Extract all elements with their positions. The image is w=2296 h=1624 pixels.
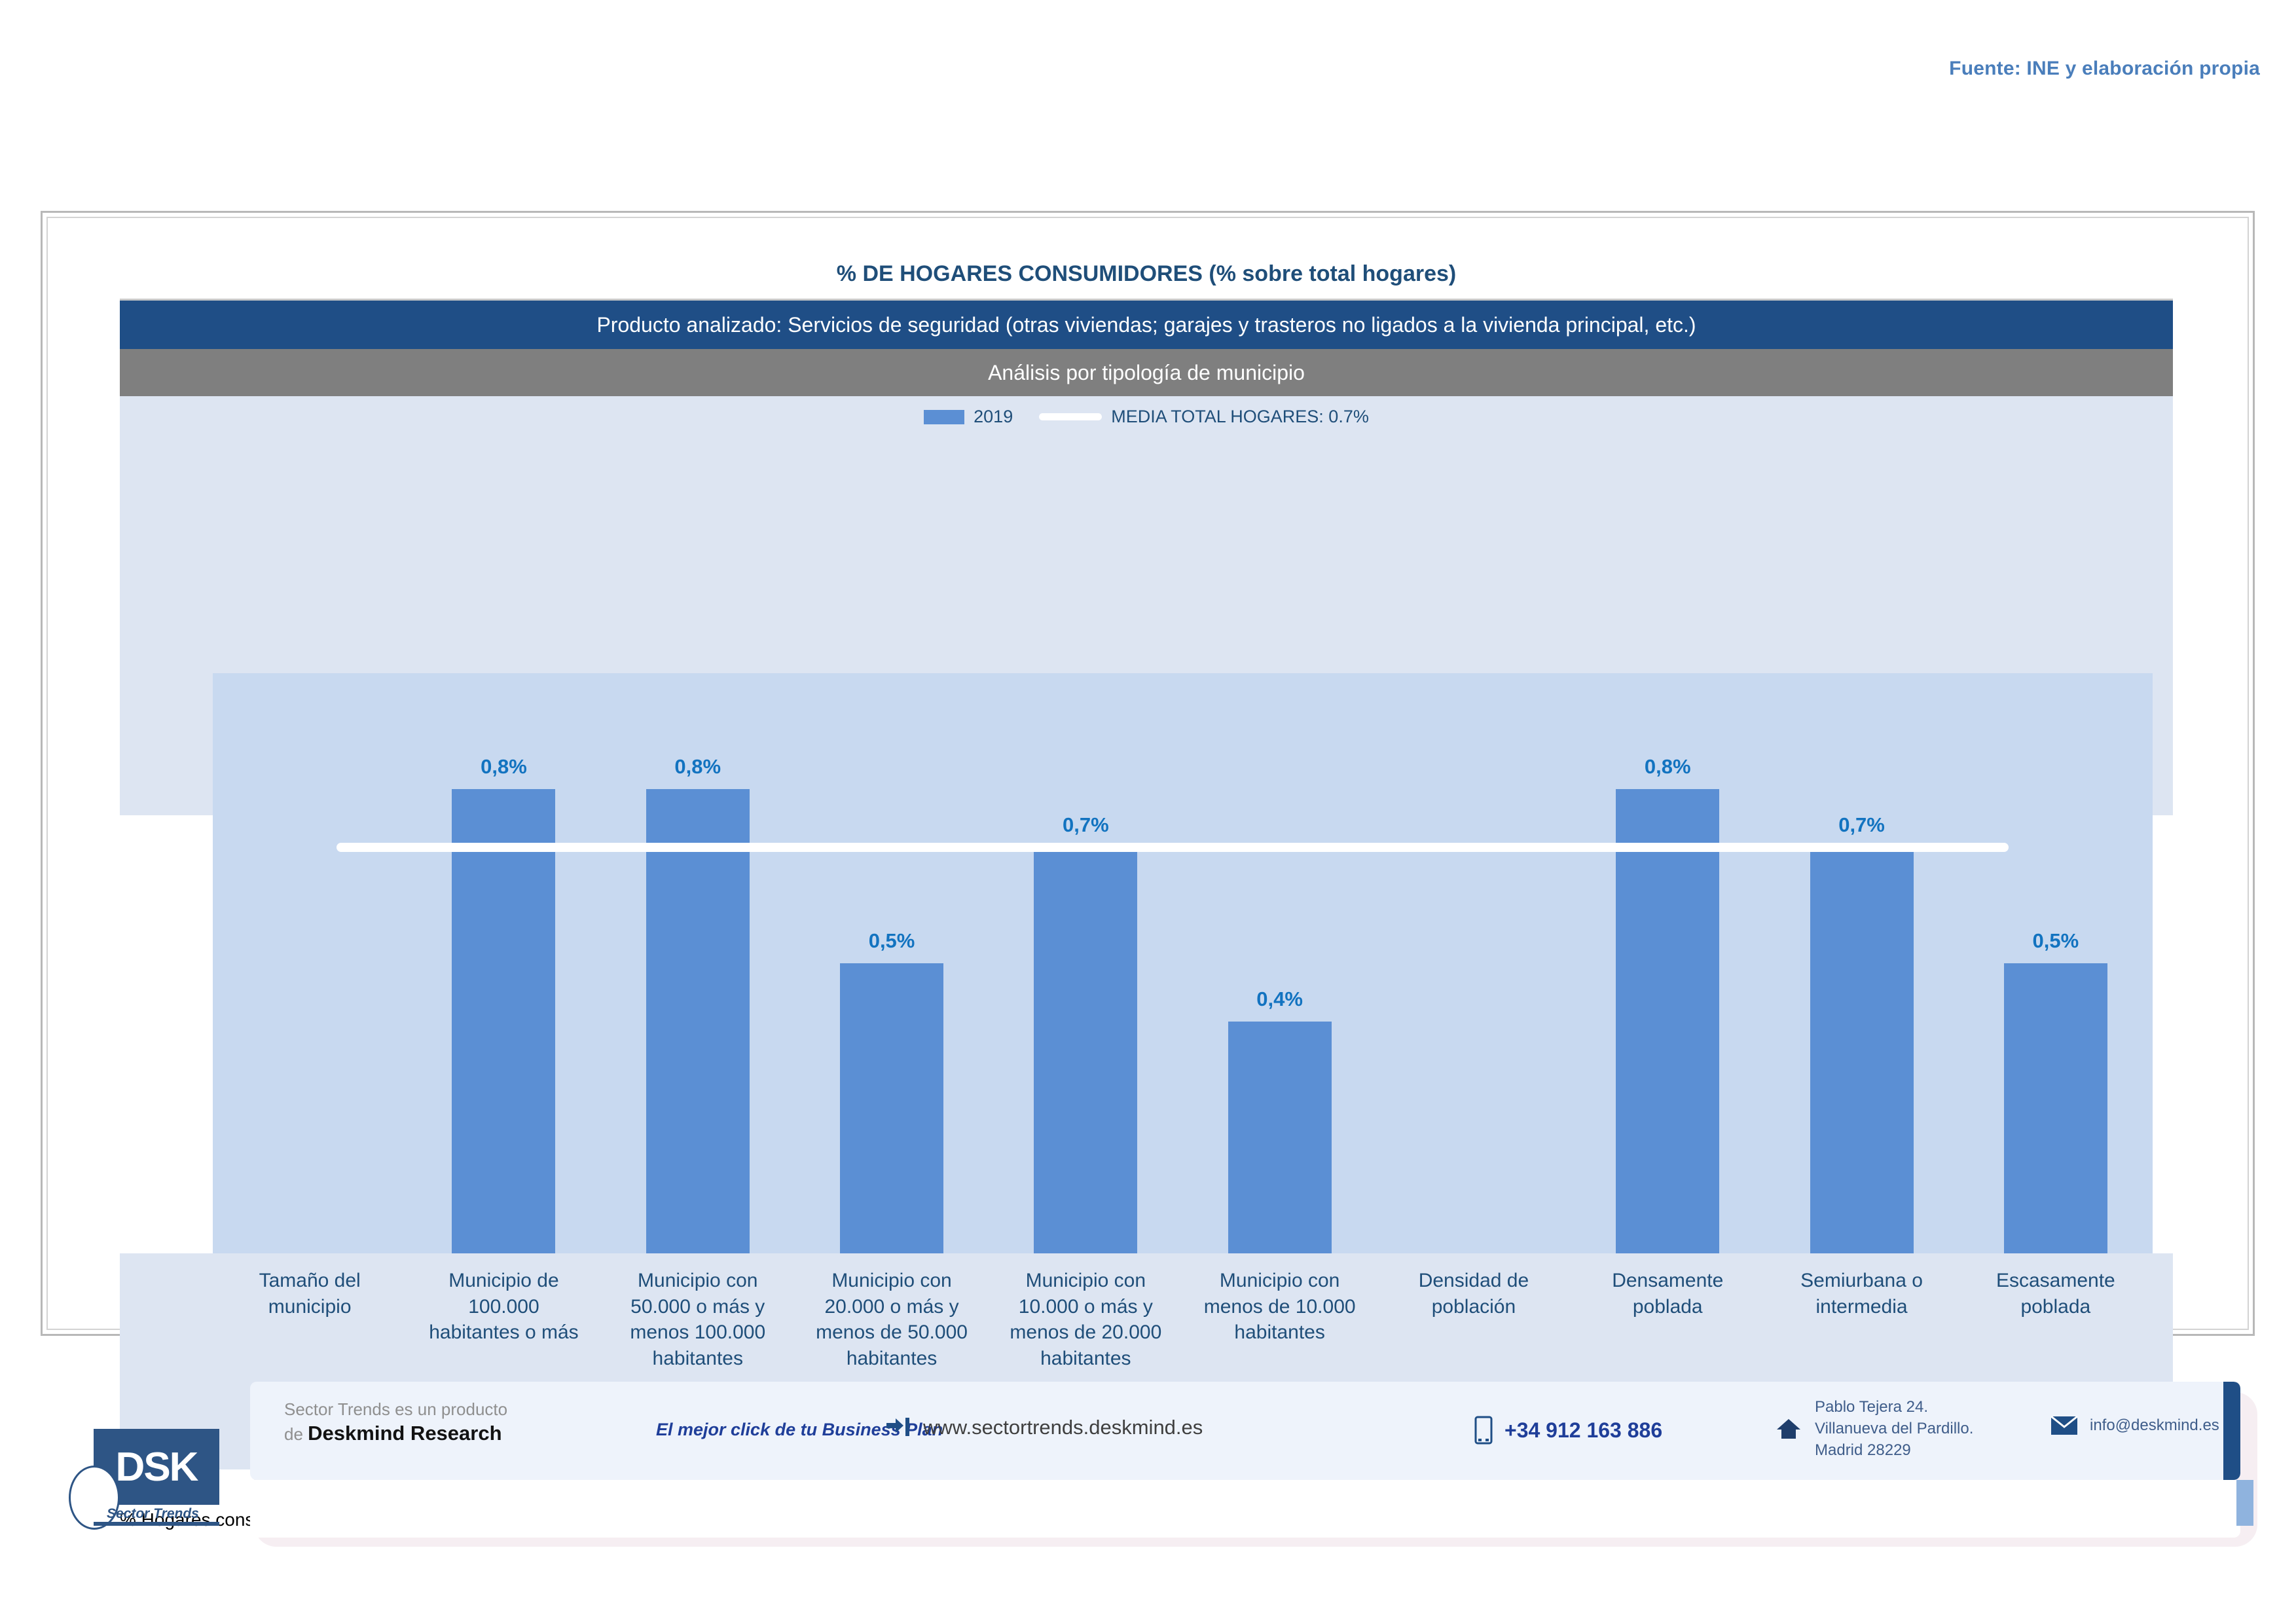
footer-accent-bar-lower bbox=[2236, 1480, 2253, 1526]
category-label: Municipio de100.000habitantes o más bbox=[407, 1268, 600, 1346]
footer-address-line2: Villanueva del Pardillo. bbox=[1815, 1420, 1973, 1437]
footer-website[interactable]: www.sectortrends.deskmind.es bbox=[885, 1416, 1203, 1439]
product-banner: Producto analizado: Servicios de segurid… bbox=[120, 301, 2173, 349]
bar-value-label: 0,7% bbox=[982, 813, 1189, 837]
category-label: Municipio conmenos de 10.000habitantes bbox=[1183, 1268, 1377, 1346]
bar-slot bbox=[1228, 673, 1332, 1253]
logo-underline bbox=[94, 1522, 219, 1526]
legend-item-average[interactable]: MEDIA TOTAL HOGARES: 0.7% bbox=[1039, 407, 1369, 427]
bar[interactable] bbox=[840, 963, 943, 1253]
legend-item-series[interactable]: 2019 bbox=[924, 407, 1013, 427]
mobile-phone-icon bbox=[1474, 1416, 1493, 1445]
slide-frame: % DE HOGARES CONSUMIDORES (% sobre total… bbox=[41, 211, 2255, 1336]
legend-swatch-icon bbox=[924, 410, 964, 424]
category-label-line: menos de 20.000 bbox=[1010, 1321, 1161, 1343]
category-label: Escasamentepoblada bbox=[1959, 1268, 2153, 1319]
category-label-line: 100.000 bbox=[468, 1296, 539, 1318]
footer-website-text: www.sectortrends.deskmind.es bbox=[923, 1416, 1203, 1439]
arrow-right-icon bbox=[885, 1416, 911, 1439]
bar[interactable] bbox=[1616, 789, 1719, 1253]
average-line bbox=[337, 843, 2009, 852]
bar-value-label: 0,7% bbox=[1758, 813, 1965, 837]
slide-inner-frame: % DE HOGARES CONSUMIDORES (% sobre total… bbox=[46, 217, 2249, 1330]
footer-address: Pablo Tejera 24. Villanueva del Pardillo… bbox=[1776, 1396, 1973, 1461]
dsk-logo: DSK Sector Trends bbox=[69, 1429, 219, 1526]
footer-email[interactable]: info@deskmind.es bbox=[2050, 1416, 2219, 1435]
legend-line-icon bbox=[1039, 413, 1102, 420]
bar-slot bbox=[840, 673, 943, 1253]
footer-product-prefix: de bbox=[284, 1424, 308, 1444]
bar[interactable] bbox=[646, 789, 750, 1253]
logo-tagline: Sector Trends bbox=[107, 1506, 199, 1522]
bar-value-label: 0,8% bbox=[594, 755, 801, 779]
footer-address-line1: Pablo Tejera 24. bbox=[1815, 1398, 1928, 1416]
page-title: % DE HOGARES CONSUMIDORES (% sobre total… bbox=[120, 249, 2173, 301]
bar-slot bbox=[2004, 673, 2107, 1253]
category-label: Semiurbana ointermedia bbox=[1764, 1268, 1958, 1319]
category-label-line: Municipio con bbox=[831, 1270, 951, 1291]
footer-email-text: info@deskmind.es bbox=[2090, 1416, 2219, 1435]
title-stack: % DE HOGARES CONSUMIDORES (% sobre total… bbox=[120, 249, 2173, 396]
footer-product-brand: Deskmind Research bbox=[308, 1422, 501, 1445]
category-label-line: menos de 10.000 bbox=[1204, 1296, 1356, 1318]
category-label-line: habitantes bbox=[1040, 1348, 1131, 1369]
bars-container: 0,8%0,8%0,5%0,7%0,4%0,8%0,7%0,5% bbox=[213, 673, 2153, 1253]
envelope-icon bbox=[2050, 1416, 2078, 1435]
category-label-line: habitantes bbox=[1234, 1321, 1324, 1343]
category-label-line: Municipio con bbox=[1026, 1270, 1146, 1291]
bar-value-label: 0,8% bbox=[400, 755, 607, 779]
category-label: Municipio con50.000 o más ymenos 100.000… bbox=[601, 1268, 795, 1371]
bar[interactable] bbox=[1034, 847, 1137, 1253]
legend-average-label: MEDIA TOTAL HOGARES: 0.7% bbox=[1111, 407, 1369, 427]
category-label-line: habitantes o más bbox=[429, 1321, 578, 1343]
category-label-line: menos 100.000 bbox=[630, 1321, 765, 1343]
home-icon bbox=[1776, 1416, 1802, 1441]
category-label-line: habitantes bbox=[653, 1348, 743, 1369]
category-label-line: poblada bbox=[2020, 1296, 2090, 1318]
category-label: Tamaño delmunicipio bbox=[213, 1268, 407, 1319]
footer-accent-bar bbox=[2223, 1382, 2240, 1480]
footer-phone-text: +34 912 163 886 bbox=[1504, 1418, 1662, 1443]
category-label: Densamentepoblada bbox=[1571, 1268, 1764, 1319]
bar-value-label: 0,8% bbox=[1564, 755, 1771, 779]
bar-slot bbox=[1034, 673, 1137, 1253]
category-label-line: Municipio con bbox=[1220, 1270, 1339, 1291]
footer-card-lower bbox=[250, 1480, 2240, 1538]
category-label-line: población bbox=[1432, 1296, 1516, 1318]
plot-area: 0,8%0,8%0,5%0,7%0,4%0,8%0,7%0,5% bbox=[213, 673, 2153, 1253]
category-label: Municipio con10.000 o más ymenos de 20.0… bbox=[989, 1268, 1182, 1371]
category-label: Municipio con20.000 o más ymenos de 50.0… bbox=[795, 1268, 989, 1371]
category-label-line: Densamente bbox=[1612, 1270, 1723, 1291]
chart-legend: 2019 MEDIA TOTAL HOGARES: 0.7% bbox=[120, 407, 2173, 427]
bar-value-label: 0,4% bbox=[1176, 987, 1383, 1011]
analysis-banner: Análisis por tipología de municipio bbox=[120, 349, 2173, 396]
category-label-line: municipio bbox=[268, 1296, 352, 1318]
footer-phone[interactable]: +34 912 163 886 bbox=[1474, 1416, 1662, 1445]
bar-slot bbox=[1810, 673, 1914, 1253]
bar[interactable] bbox=[1810, 847, 1914, 1253]
category-label: Densidad depoblación bbox=[1377, 1268, 1571, 1319]
category-label-line: Escasamente bbox=[1996, 1270, 2115, 1291]
legend-series-label: 2019 bbox=[974, 407, 1013, 427]
category-label-line: Semiurbana o bbox=[1800, 1270, 1923, 1291]
category-label-line: 10.000 o más y bbox=[1019, 1296, 1153, 1318]
footer-address-line3: Madrid 28229 bbox=[1815, 1441, 1911, 1459]
footer-bar: Sector Trends es un producto de Deskmind… bbox=[250, 1382, 2253, 1552]
category-label-line: habitantes bbox=[847, 1348, 937, 1369]
category-label-line: Tamaño del bbox=[259, 1270, 361, 1291]
category-label-line: menos de 50.000 bbox=[816, 1321, 968, 1343]
category-label-line: Municipio con bbox=[638, 1270, 757, 1291]
bar-value-label: 0,5% bbox=[788, 929, 995, 953]
bar[interactable] bbox=[2004, 963, 2107, 1253]
category-label-line: intermedia bbox=[1816, 1296, 1908, 1318]
category-label-line: Municipio de bbox=[448, 1270, 558, 1291]
bar[interactable] bbox=[1228, 1022, 1332, 1253]
category-label-line: 50.000 o más y bbox=[630, 1296, 765, 1318]
footer-product-note: Sector Trends es un producto de Deskmind… bbox=[284, 1399, 507, 1447]
footer-address-text: Pablo Tejera 24. Villanueva del Pardillo… bbox=[1815, 1396, 1973, 1461]
bar-value-label: 0,5% bbox=[1952, 929, 2159, 953]
bar[interactable] bbox=[452, 789, 555, 1253]
category-label-line: 20.000 o más y bbox=[824, 1296, 958, 1318]
source-note: Fuente: INE y elaboración propia bbox=[1949, 58, 2260, 80]
footer-product-line1: Sector Trends es un producto bbox=[284, 1399, 507, 1419]
category-label-line: Densidad de bbox=[1419, 1270, 1529, 1291]
category-label-line: poblada bbox=[1633, 1296, 1703, 1318]
